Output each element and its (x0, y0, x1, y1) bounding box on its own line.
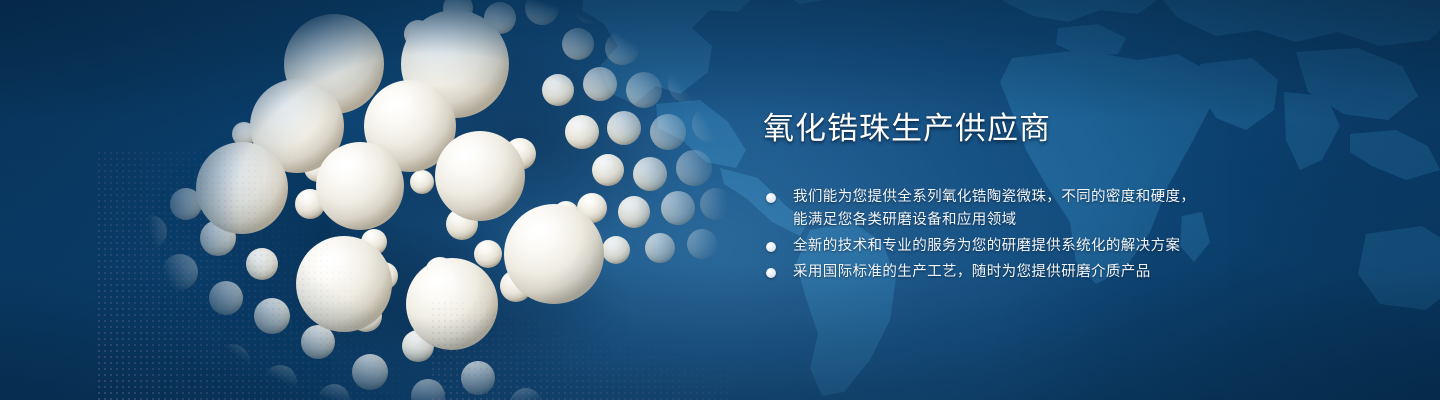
list-item-line-2: 能满足您各类研磨设备和应用领域 (793, 209, 1383, 232)
hero-banner: 氧化锆珠生产供应商 我们能为您提供全系列氧化锆陶瓷微珠，不同的密度和硬度， 能满… (0, 0, 1440, 400)
dot-bullet-icon (766, 242, 776, 252)
list-item-line-1: 采用国际标准的生产工艺，随时为您提供研磨介质产品 (793, 264, 1151, 280)
list-item-line-1: 我们能为您提供全系列氧化锆陶瓷微珠，不同的密度和硬度， (793, 189, 1195, 205)
banner-headline: 氧化锆珠生产供应商 (763, 110, 1383, 148)
list-item-line-1: 全新的技术和专业的服务为您的研磨提供系统化的解决方案 (793, 238, 1180, 254)
dot-bullet-icon (766, 193, 776, 203)
list-item: 全新的技术和专业的服务为您的研磨提供系统化的解决方案 (763, 235, 1383, 258)
banner-copy: 氧化锆珠生产供应商 我们能为您提供全系列氧化锆陶瓷微珠，不同的密度和硬度， 能满… (763, 110, 1383, 287)
feature-list: 我们能为您提供全系列氧化锆陶瓷微珠，不同的密度和硬度， 能满足您各类研磨设备和应… (763, 186, 1383, 284)
list-item: 我们能为您提供全系列氧化锆陶瓷微珠，不同的密度和硬度， 能满足您各类研磨设备和应… (763, 186, 1383, 232)
list-item: 采用国际标准的生产工艺，随时为您提供研磨介质产品 (763, 261, 1383, 284)
zirconia-beads-photo (122, 0, 728, 400)
dot-bullet-icon (766, 268, 776, 278)
